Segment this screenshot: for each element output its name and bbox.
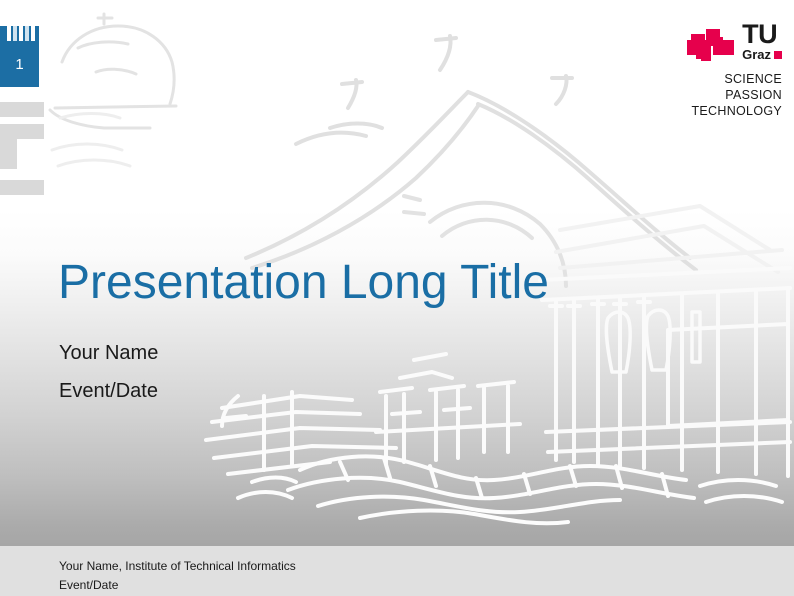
iti-logo-icon	[7, 26, 35, 43]
footer-text-block: Your Name, Institute of Technical Inform…	[59, 557, 296, 595]
tu-graz-tagline: SCIENCE PASSION TECHNOLOGY	[662, 71, 782, 119]
iti-logo-box: 1	[0, 26, 39, 87]
footer-line-author: Your Name, Institute of Technical Inform…	[59, 557, 296, 576]
graz-dot-icon	[774, 51, 782, 59]
slide-title[interactable]: Presentation Long Title	[58, 255, 549, 311]
presentation-slide: 1 TU G	[0, 0, 794, 596]
decorative-bar-4	[0, 180, 44, 195]
decorative-bar-1	[0, 102, 44, 117]
tu-graz-mark-icon	[687, 29, 739, 61]
graz-text: Graz	[742, 48, 771, 61]
tagline-line-science: SCIENCE	[662, 71, 782, 87]
tagline-line-technology: TECHNOLOGY	[662, 103, 782, 119]
slide-footer: Your Name, Institute of Technical Inform…	[0, 546, 794, 596]
tagline-line-passion: PASSION	[662, 87, 782, 103]
tu-text: TU	[742, 22, 777, 47]
slide-subtitle-event[interactable]: Event/Date	[59, 378, 158, 404]
tu-graz-logo: TU Graz SCIENCE PASSION TECHNOLOGY	[662, 22, 782, 119]
footer-line-event: Event/Date	[59, 576, 296, 595]
slide-number: 1	[0, 56, 39, 74]
decorative-bar-3	[0, 124, 17, 169]
slide-subtitle-name[interactable]: Your Name	[59, 340, 158, 366]
